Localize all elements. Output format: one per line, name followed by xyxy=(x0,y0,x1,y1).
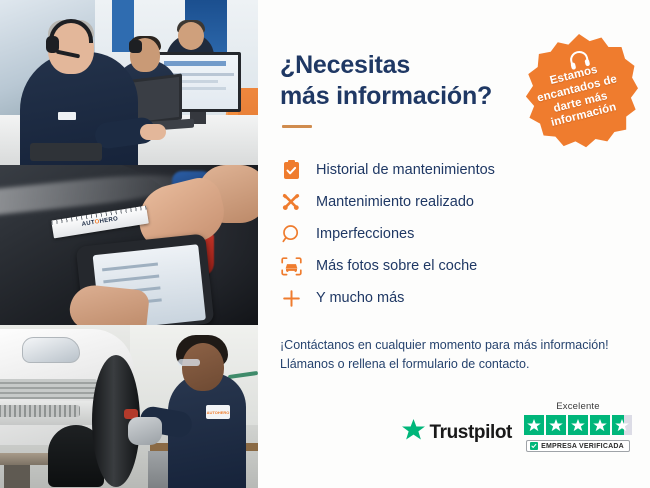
trustpilot-logo[interactable]: Trustpilot xyxy=(402,419,512,452)
contact-line-2: Llámanos o rellena el formulario de cont… xyxy=(280,357,529,371)
trustpilot-wordmark: Trustpilot xyxy=(429,422,512,444)
call-center-agents-photo xyxy=(0,0,258,165)
mechanic-wheel-check-photo: AUTOHERO xyxy=(0,325,258,488)
feature-label: Historial de mantenimientos xyxy=(316,163,495,178)
headline-line-2: más información? xyxy=(280,82,492,110)
support-badge: Estamos encantados de darte más informac… xyxy=(520,34,638,152)
trustpilot-rating: Excelente xyxy=(524,401,632,452)
feature-item-mantenimiento: Mantenimiento realizado xyxy=(280,186,628,218)
headline-line-1: ¿Necesitas xyxy=(280,51,410,79)
mechanic-badge-text: AUTOHERO xyxy=(207,410,230,415)
tablet-ui-line xyxy=(103,274,159,283)
star-rating xyxy=(524,415,632,435)
mechanic-glove xyxy=(128,417,162,445)
desk-tablet xyxy=(30,143,102,161)
second-agent-headset xyxy=(129,40,142,53)
mechanic-head xyxy=(182,343,224,391)
mechanic-safety-glasses xyxy=(178,359,200,366)
contact-line-1: ¡Contáctanos en cualquier momento para m… xyxy=(280,338,609,352)
star-filled xyxy=(568,415,588,435)
star-partial xyxy=(612,415,632,435)
content-panel: ¿Necesitas más información? Estamos enca… xyxy=(258,0,650,488)
feature-label: Y mucho más xyxy=(316,291,404,306)
verified-label: EMPRESA VERIFICADA xyxy=(541,443,624,450)
page-title: ¿Necesitas más información? xyxy=(280,50,510,111)
trustpilot-widget[interactable]: Trustpilot Excelente xyxy=(402,401,632,452)
feature-item-fotos: Más fotos sobre el coche xyxy=(280,250,628,282)
tablet-ui-line xyxy=(102,263,158,272)
title-divider xyxy=(282,125,312,128)
inspector-hand-holding-tablet xyxy=(68,283,150,325)
feature-label: Imperfecciones xyxy=(316,227,414,242)
main-agent-hand xyxy=(140,124,166,140)
car-inspection-ruler-photo: AUTOHERO xyxy=(0,165,258,325)
car-viewfinder-icon xyxy=(280,255,302,277)
feature-label: Más fotos sobre el coche xyxy=(316,259,477,274)
feature-item-mas: Y mucho más xyxy=(280,282,628,314)
verified-business-badge: EMPRESA VERIFICADA xyxy=(526,440,630,452)
feature-item-imperfecciones: Imperfecciones xyxy=(280,218,628,250)
information-cta-banner: AUTOHERO xyxy=(0,0,650,488)
tools-cross-icon xyxy=(280,191,302,213)
car-lower-grille xyxy=(0,405,80,417)
plus-icon xyxy=(280,287,302,309)
feature-list: Historial de mantenimientos Mantenimient… xyxy=(280,154,628,314)
background-colleague-head xyxy=(178,22,204,50)
clipboard-check-icon xyxy=(280,159,302,181)
star-filled xyxy=(546,415,566,435)
main-agent-name-badge xyxy=(58,112,76,120)
car-lift-post xyxy=(4,465,30,488)
contact-text: ¡Contáctanos en cualquier momento para m… xyxy=(280,336,628,375)
car-grille xyxy=(0,379,98,399)
feature-item-historial: Historial de mantenimientos xyxy=(280,154,628,186)
car-headlight xyxy=(22,337,80,363)
star-filled xyxy=(524,415,544,435)
magnifier-icon xyxy=(280,223,302,245)
trustpilot-star-icon xyxy=(402,419,425,446)
star-filled xyxy=(590,415,610,435)
feature-label: Mantenimiento realizado xyxy=(316,195,474,210)
photo-collage: AUTOHERO xyxy=(0,0,258,488)
monitor-ui-bar xyxy=(164,61,226,66)
check-icon xyxy=(530,442,538,450)
rating-label: Excelente xyxy=(556,401,600,412)
mechanic-uniform-badge: AUTOHERO xyxy=(206,405,230,419)
